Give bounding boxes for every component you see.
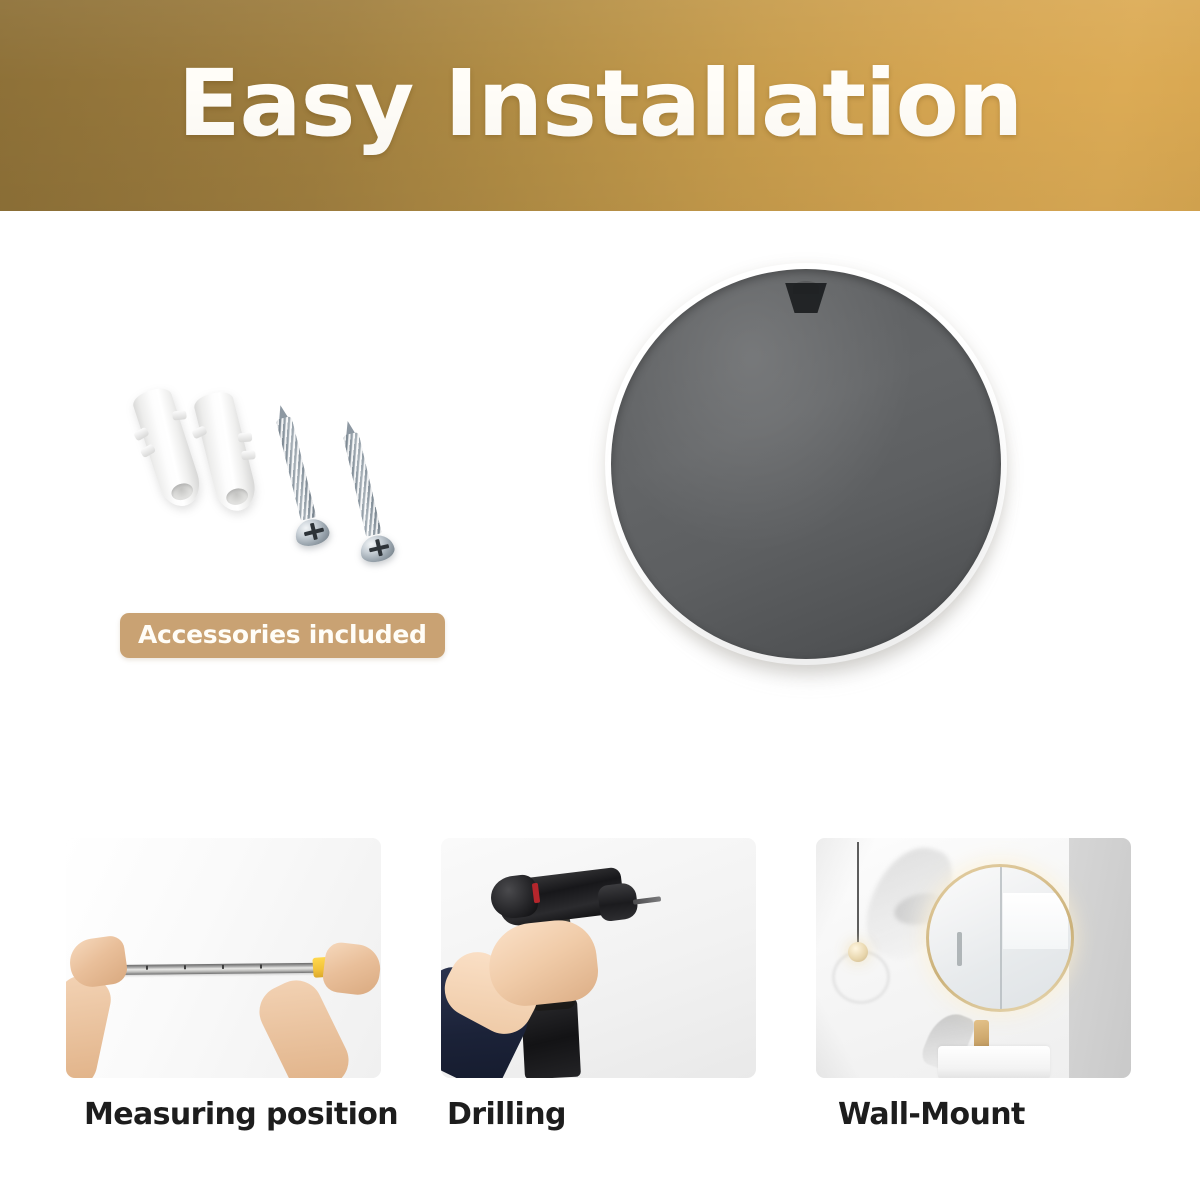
drill-motor: [489, 873, 540, 920]
anchor-opening: [169, 481, 195, 503]
step-drilling: Drilling: [441, 838, 756, 1130]
anchor-fin: [140, 443, 157, 458]
anchor-fin: [191, 425, 208, 439]
window-reflection: [1003, 893, 1068, 950]
reflection-seam: [1000, 867, 1002, 1009]
header-banner: Easy Installation: [0, 0, 1200, 211]
tape-tick: [222, 965, 224, 969]
drill-bit-icon: [633, 896, 661, 904]
accessories-included-badge: Accessories included: [120, 613, 445, 658]
anchor-opening: [225, 486, 250, 507]
screw-shank: [343, 432, 382, 537]
hanging-bracket-icon: [780, 283, 832, 313]
screw-icon: [338, 431, 392, 562]
pendant-light-bulb-icon: [848, 942, 868, 962]
screw-shank: [276, 416, 317, 521]
page-title: Easy Installation: [0, 58, 1200, 150]
pendant-light-cord: [857, 842, 859, 946]
product-mirror-image: [600, 258, 1014, 702]
step-caption: Measuring position: [66, 1100, 381, 1130]
step-caption: Wall-Mount: [816, 1100, 1131, 1130]
anchor-fin: [241, 450, 256, 460]
mirror-glass: [611, 269, 1001, 659]
mounted-mirror-glass: [929, 867, 1071, 1009]
side-wall: [1069, 838, 1131, 1078]
wall-anchor-icon: [192, 389, 260, 515]
drilling-photo: [441, 838, 756, 1078]
hardware-photo: [120, 370, 460, 570]
sink-basin: [938, 1046, 1050, 1078]
anchor-fin: [238, 432, 253, 442]
step-measuring-position: Measuring position: [66, 838, 381, 1130]
tape-tick: [184, 965, 186, 969]
tape-tick: [260, 964, 262, 968]
measuring-position-photo: [66, 838, 381, 1078]
step-caption: Drilling: [441, 1100, 756, 1130]
tape-tick: [146, 966, 148, 970]
mirror-gold-frame: [605, 263, 1007, 665]
step-wall-mount: Wall-Mount: [816, 838, 1131, 1130]
anchor-fin: [172, 410, 187, 420]
shower-reflection: [957, 932, 962, 966]
wall-mount-photo: [816, 838, 1131, 1078]
accessories-group: Accessories included: [120, 370, 460, 680]
mounted-round-mirror: [926, 864, 1074, 1012]
anchor-fin: [133, 427, 150, 442]
hand: [485, 917, 601, 1010]
screw-icon: [271, 415, 327, 545]
